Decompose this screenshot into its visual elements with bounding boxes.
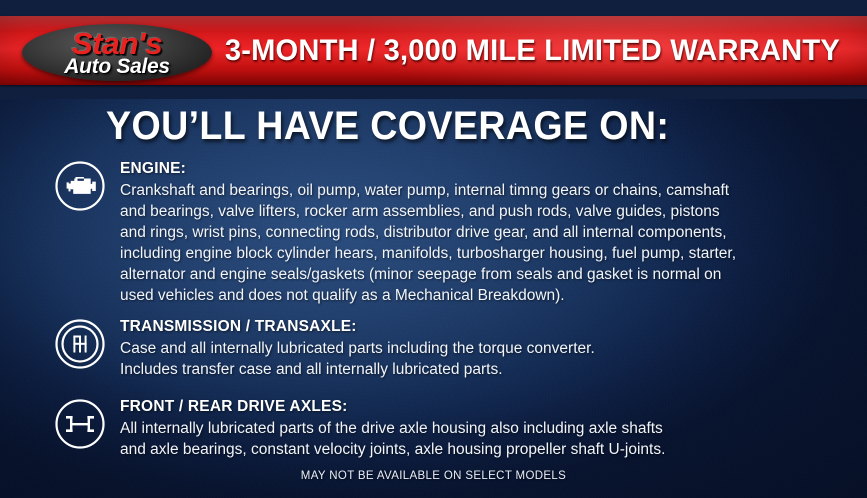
section-title: TRANSMISSION / TRANSAXLE: (120, 318, 595, 336)
transmission-icon (54, 318, 106, 370)
body-line: and bearings, valve lifters, rocker arm … (120, 201, 736, 222)
body-line: including engine block cylinder hears, m… (120, 243, 736, 264)
body-line: alternator and engine seals/gaskets (min… (120, 264, 736, 285)
body-line: All internally lubricated parts of the d… (120, 418, 665, 439)
engine-text-block: ENGINE: Crankshaft and bearings, oil pum… (120, 160, 736, 306)
warranty-title: 3-MONTH / 3,000 MILE LIMITED WARRANTY (222, 16, 843, 85)
axles-text-block: FRONT / REAR DRIVE AXLES: All internally… (120, 398, 665, 460)
body-line: used vehicles and does not qualify as a … (120, 285, 736, 306)
section-body: Case and all internally lubricated parts… (120, 338, 595, 380)
body-line: and axle bearings, constant velocity joi… (120, 439, 665, 460)
drive-axle-icon (54, 398, 106, 450)
body-line: Includes transfer case and all internall… (120, 359, 595, 380)
engine-icon (54, 160, 106, 212)
stans-auto-sales-logo: Stan's Auto Sales (22, 24, 212, 81)
section-title: ENGINE: (120, 160, 736, 178)
section-body: All internally lubricated parts of the d… (120, 418, 665, 460)
body-line: and rings, wrist pins, connecting rods, … (120, 222, 736, 243)
section-body: Crankshaft and bearings, oil pump, water… (120, 180, 736, 306)
body-line: Crankshaft and bearings, oil pump, water… (120, 180, 736, 201)
page-title: YOU’LL HAVE COVERAGE ON: (106, 104, 669, 149)
body-line: Case and all internally lubricated parts… (120, 338, 595, 359)
header: Stan's Auto Sales 3-MONTH / 3,000 MILE L… (0, 0, 867, 99)
transmission-text-block: TRANSMISSION / TRANSAXLE: Case and all i… (120, 318, 595, 380)
disclaimer-text: MAY NOT BE AVAILABLE ON SELECT MODELS (0, 470, 867, 482)
logo-secondary-text: Auto Sales (22, 55, 212, 79)
section-title: FRONT / REAR DRIVE AXLES: (120, 398, 665, 416)
warranty-banner: Stan's Auto Sales 3-MONTH / 3,000 MILE L… (0, 0, 867, 498)
